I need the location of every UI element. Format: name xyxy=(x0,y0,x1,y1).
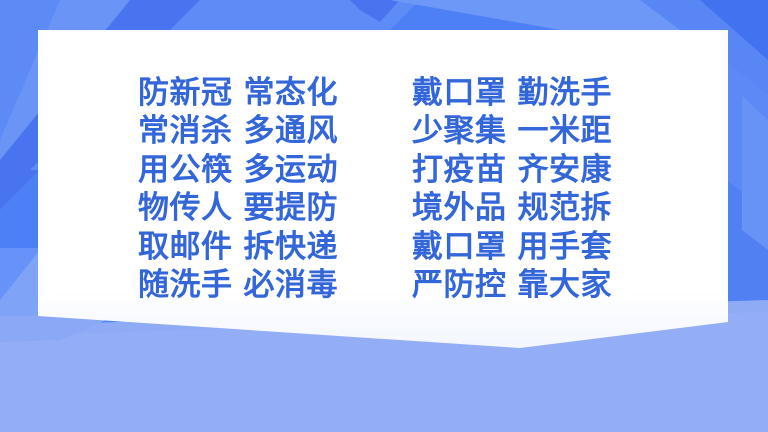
slogan-phrase-a: 少聚集 xyxy=(412,112,507,150)
poster-root: 防新冠 常态化 常消杀 多通风 用公筷 多运动 物传人 要提防 取邮件 拆快 xyxy=(0,0,768,432)
slogan-line: 随洗手 必消毒 xyxy=(138,266,338,304)
slogan-phrase-a: 常消杀 xyxy=(138,112,233,150)
slogan-phrase-a: 境外品 xyxy=(412,189,507,227)
slogan-phrase-a: 戴口罩 xyxy=(412,74,507,112)
slogan-line: 打疫苗 齐安康 xyxy=(412,151,612,189)
slogan-line: 戴口罩 勤洗手 xyxy=(412,74,612,112)
slogan-line: 境外品 规范拆 xyxy=(412,189,612,227)
slogan-line: 防新冠 常态化 xyxy=(138,74,338,112)
slogan-phrase-b: 用手套 xyxy=(518,228,613,266)
slogan-line: 常消杀 多通风 xyxy=(138,112,338,150)
slogan-phrase-b: 规范拆 xyxy=(518,189,613,227)
slogan-line: 物传人 要提防 xyxy=(138,189,338,227)
slogan-content: 防新冠 常态化 常消杀 多通风 用公筷 多运动 物传人 要提防 取邮件 拆快 xyxy=(0,0,768,432)
slogan-line: 严防控 靠大家 xyxy=(412,266,612,304)
slogan-phrase-a: 随洗手 xyxy=(138,266,233,304)
slogan-phrase-a: 取邮件 xyxy=(138,228,233,266)
slogan-columns: 防新冠 常态化 常消杀 多通风 用公筷 多运动 物传人 要提防 取邮件 拆快 xyxy=(138,74,658,304)
slogan-phrase-b: 拆快递 xyxy=(244,228,339,266)
slogan-phrase-b: 勤洗手 xyxy=(518,74,613,112)
slogan-phrase-b: 要提防 xyxy=(244,189,339,227)
slogan-phrase-b: 常态化 xyxy=(244,74,339,112)
right-slogan-column: 戴口罩 勤洗手 少聚集 一米距 打疫苗 齐安康 境外品 规范拆 戴口罩 用手 xyxy=(412,74,612,304)
slogan-phrase-b: 多运动 xyxy=(244,151,339,189)
slogan-phrase-a: 打疫苗 xyxy=(412,151,507,189)
slogan-line: 少聚集 一米距 xyxy=(412,112,612,150)
slogan-phrase-b: 齐安康 xyxy=(518,151,613,189)
left-slogan-column: 防新冠 常态化 常消杀 多通风 用公筷 多运动 物传人 要提防 取邮件 拆快 xyxy=(138,74,338,304)
slogan-phrase-b: 必消毒 xyxy=(244,266,339,304)
slogan-phrase-b: 多通风 xyxy=(244,112,339,150)
slogan-phrase-a: 防新冠 xyxy=(138,74,233,112)
slogan-phrase-b: 靠大家 xyxy=(518,266,613,304)
slogan-phrase-a: 用公筷 xyxy=(138,151,233,189)
slogan-line: 戴口罩 用手套 xyxy=(412,228,612,266)
slogan-line: 用公筷 多运动 xyxy=(138,151,338,189)
slogan-phrase-a: 严防控 xyxy=(412,266,507,304)
slogan-phrase-b: 一米距 xyxy=(518,112,613,150)
slogan-phrase-a: 物传人 xyxy=(138,189,233,227)
slogan-phrase-a: 戴口罩 xyxy=(412,228,507,266)
slogan-line: 取邮件 拆快递 xyxy=(138,228,338,266)
